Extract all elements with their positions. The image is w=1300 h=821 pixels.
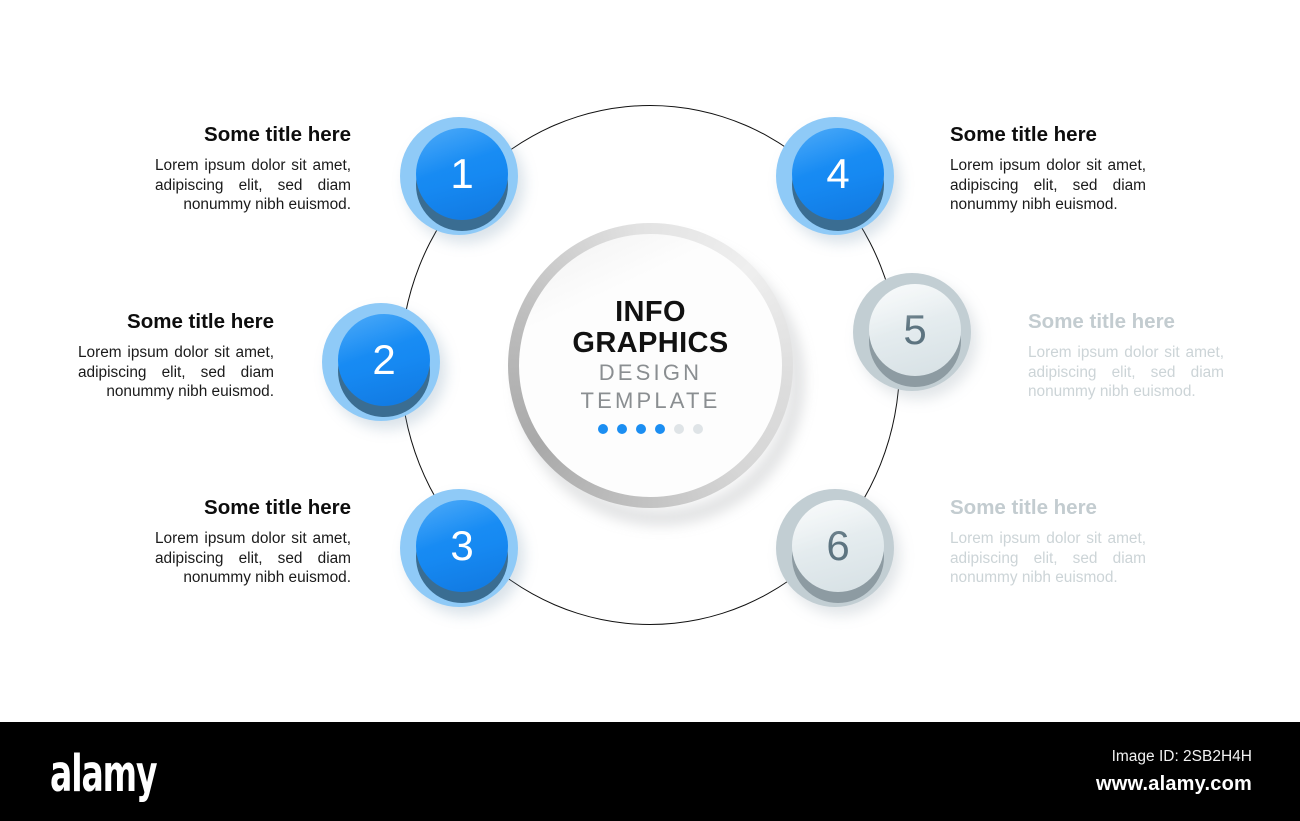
step-marker-6[interactable]: 6 xyxy=(776,489,902,615)
step-text-5: Some title here Lorem ipsum dolor sit am… xyxy=(1028,310,1224,402)
step-title-5: Some title here xyxy=(1028,310,1224,334)
marker-cap: 4 xyxy=(792,128,884,220)
step-body-4: Lorem ipsum dolor sit amet, adipiscing e… xyxy=(950,156,1146,215)
step-text-6: Some title here Lorem ipsum dolor sit am… xyxy=(950,496,1146,588)
marker-cap: 5 xyxy=(869,284,961,376)
center-title-line-2: GRAPHICS xyxy=(572,328,728,359)
diagram-area: INFO GRAPHICS DESIGN TEMPLATE 1 2 xyxy=(0,0,1300,722)
step-body-3: Lorem ipsum dolor sit amet, adipiscing e… xyxy=(155,529,351,588)
progress-dot-2 xyxy=(617,424,627,434)
marker-cap: 6 xyxy=(792,500,884,592)
marker-cap: 2 xyxy=(338,314,430,406)
step-title-6: Some title here xyxy=(950,496,1146,520)
marker-cap: 1 xyxy=(416,128,508,220)
step-body-2: Lorem ipsum dolor sit amet, adipiscing e… xyxy=(78,343,274,402)
step-marker-4[interactable]: 4 xyxy=(776,117,902,243)
center-disc: INFO GRAPHICS DESIGN TEMPLATE xyxy=(519,234,782,497)
step-text-3: Some title here Lorem ipsum dolor sit am… xyxy=(155,496,351,588)
step-title-1: Some title here xyxy=(155,123,351,147)
progress-dots xyxy=(598,424,703,434)
center-subtitle-line-2: TEMPLATE xyxy=(580,387,720,415)
marker-number: 1 xyxy=(450,153,473,195)
marker-number: 6 xyxy=(826,525,849,567)
step-text-1: Some title here Lorem ipsum dolor sit am… xyxy=(155,123,351,215)
marker-number: 2 xyxy=(372,339,395,381)
alamy-url: www.alamy.com xyxy=(1096,770,1252,798)
watermark-meta: Image ID: 2SB2H4H www.alamy.com xyxy=(1096,744,1252,798)
center-subtitle-line-1: DESIGN xyxy=(599,359,703,387)
marker-cap: 3 xyxy=(416,500,508,592)
step-text-2: Some title here Lorem ipsum dolor sit am… xyxy=(78,310,274,402)
step-text-4: Some title here Lorem ipsum dolor sit am… xyxy=(950,123,1146,215)
step-marker-3[interactable]: 3 xyxy=(400,489,526,615)
marker-number: 3 xyxy=(450,525,473,567)
progress-dot-6 xyxy=(693,424,703,434)
marker-number: 4 xyxy=(826,153,849,195)
step-title-4: Some title here xyxy=(950,123,1146,147)
step-marker-1[interactable]: 1 xyxy=(400,117,526,243)
step-body-5: Lorem ipsum dolor sit amet, adipiscing e… xyxy=(1028,343,1224,402)
progress-dot-5 xyxy=(674,424,684,434)
progress-dot-4 xyxy=(655,424,665,434)
alamy-watermark-bar: alamy Image ID: 2SB2H4H www.alamy.com xyxy=(0,722,1300,821)
center-title-line-1: INFO xyxy=(615,297,686,328)
progress-dot-1 xyxy=(598,424,608,434)
alamy-logo: alamy xyxy=(50,749,156,801)
progress-dot-3 xyxy=(636,424,646,434)
step-body-6: Lorem ipsum dolor sit amet, adipiscing e… xyxy=(950,529,1146,588)
step-marker-5[interactable]: 5 xyxy=(853,273,979,399)
center-medallion: INFO GRAPHICS DESIGN TEMPLATE xyxy=(508,223,793,508)
image-id-label: Image ID: 2SB2H4H xyxy=(1096,744,1252,770)
marker-number: 5 xyxy=(903,309,926,351)
step-marker-2[interactable]: 2 xyxy=(322,303,448,429)
step-title-3: Some title here xyxy=(155,496,351,520)
step-body-1: Lorem ipsum dolor sit amet, adipiscing e… xyxy=(155,156,351,215)
step-title-2: Some title here xyxy=(78,310,274,334)
infographic-canvas: INFO GRAPHICS DESIGN TEMPLATE 1 2 xyxy=(0,0,1300,821)
